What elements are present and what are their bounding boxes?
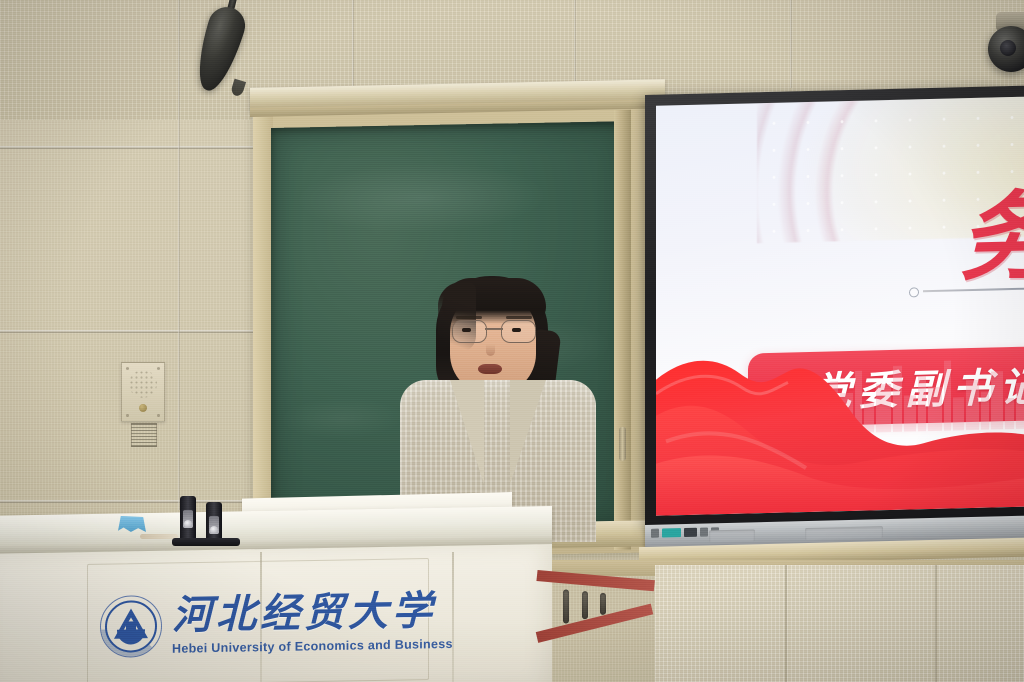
display-button[interactable] [684,528,697,537]
blackboard-handle[interactable] [619,427,626,461]
glasses-bridge [485,328,503,330]
slide-title-character: 务 [959,188,1024,286]
camera-lens-icon [1000,40,1016,56]
lower-wall-seam [785,565,787,682]
wall-seam-horizontal [0,146,256,149]
eyebrow-left [456,316,482,319]
university-crest-icon [100,595,162,658]
eye-left [462,328,471,332]
wall-seam-vertical [574,0,576,92]
volume-knob[interactable] [139,404,147,412]
red-ribbon-mountains [656,336,1024,515]
wall-seam-horizontal [0,330,256,333]
blazer-lapel-left [450,380,484,484]
eyebrow-right [506,316,532,319]
nose [486,344,495,356]
display-button[interactable] [651,529,659,538]
display-speaker-grille [709,529,755,542]
speaker-grille-icon [129,370,157,398]
chevron-slot [582,591,588,619]
podium-logo: 河北经贸大学 Hebei University of Economics and… [100,583,370,666]
blackboard-left-post [253,105,273,545]
mouth [478,364,502,374]
divider-knob-icon [909,287,919,297]
chevron-bar-top [536,570,655,591]
interactive-display[interactable]: 务 党委副书记 [645,85,1024,550]
desktop-microphone[interactable] [206,502,222,540]
lecture-hall-scene: 务 党委副书记 [0,0,1024,682]
screw-icon [126,367,129,370]
screw-icon [157,367,160,370]
display-power-button[interactable] [662,528,681,537]
lower-wall-seam [935,565,937,682]
university-name-cn: 河北经贸大学 [172,591,453,636]
blackboard-slider-divider[interactable] [614,110,631,550]
screw-icon [126,414,129,417]
chevron-bar-bottom [536,604,653,643]
divider-rod [923,288,1024,292]
display-speaker-grille [805,526,883,540]
slide-divider-line [909,285,1024,296]
podium-chevron-accent [537,562,659,660]
wall-device-label [131,423,157,447]
chevron-slot [600,593,606,615]
display-content[interactable]: 务 党委副书记 [656,96,1024,515]
lower-wall-texture [655,565,1024,682]
podium-logo-text: 河北经贸大学 Hebei University of Economics and… [172,591,453,656]
mountain-svg [656,336,1024,515]
wall-speaker-panel[interactable] [121,362,165,422]
microphone-indicator [184,520,192,528]
chevron-slot [563,589,569,623]
wall-seam-vertical [790,0,792,88]
screw-icon [157,414,160,417]
desktop-microphone-pair[interactable] [176,500,238,546]
blazer-lapel-right [510,380,546,484]
lower-wall-panel [655,565,1024,682]
wall-seam-vertical [178,0,180,510]
crest-glyph [126,621,136,632]
eye-right [512,328,521,332]
microphone-indicator [210,526,218,534]
microphone-base [172,538,240,546]
podium: 河北经贸大学 Hebei University of Economics and… [0,506,552,682]
display-button[interactable] [700,527,708,536]
wall-seam-vertical [352,0,354,96]
desktop-microphone[interactable] [180,496,196,540]
